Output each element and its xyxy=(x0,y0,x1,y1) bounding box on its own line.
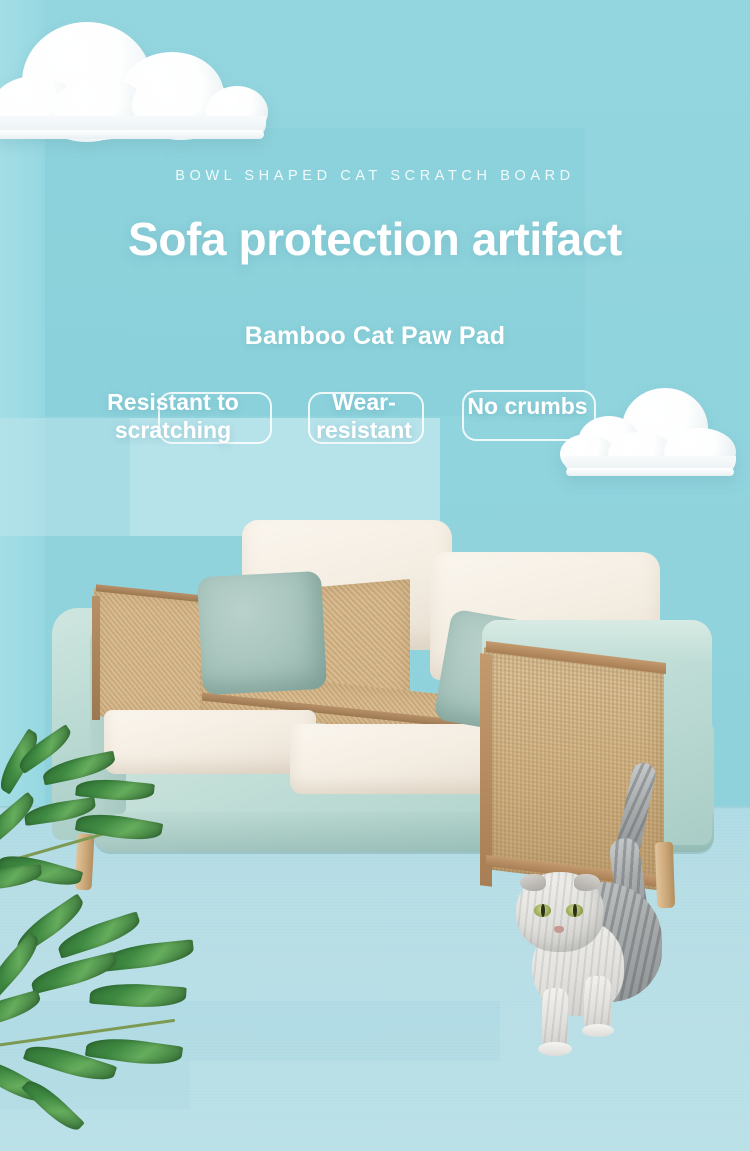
bamboo-mat-image xyxy=(94,588,214,729)
pillow-image-left xyxy=(197,571,327,695)
scratch-board-trim-left xyxy=(480,653,492,886)
cat-nose xyxy=(554,926,564,933)
cloud-icon xyxy=(0,20,282,145)
product-subtitle: Bamboo Cat Paw Pad xyxy=(0,322,750,351)
badge-label: No crumbs xyxy=(440,392,615,420)
eyebrow-text: BOWL SHAPED CAT SCRATCH BOARD xyxy=(0,168,750,184)
badge-label: Resistant to scratching xyxy=(78,388,268,444)
cat-leg-front-left xyxy=(542,988,568,1050)
cat-ear-left xyxy=(520,874,546,891)
cat-paw-left xyxy=(538,1042,572,1056)
cat-pupil-right xyxy=(573,904,577,917)
cat-paw-right xyxy=(582,1024,614,1037)
cat-image xyxy=(498,770,698,1070)
cat-ear-right xyxy=(574,874,600,891)
feature-badge-row: Resistant to scratching Wear- resistant … xyxy=(0,388,750,458)
bamboo-mat-trim-left xyxy=(92,596,100,720)
olive-branch-image-upper xyxy=(0,742,230,922)
cat-pupil-left xyxy=(541,904,545,917)
olive-branch-image-lower xyxy=(0,900,240,1150)
page-title: Sofa protection artifact xyxy=(0,212,750,266)
product-banner: BOWL SHAPED CAT SCRATCH BOARD Sofa prote… xyxy=(0,0,750,1151)
badge-label: Wear- resistant xyxy=(280,388,448,444)
